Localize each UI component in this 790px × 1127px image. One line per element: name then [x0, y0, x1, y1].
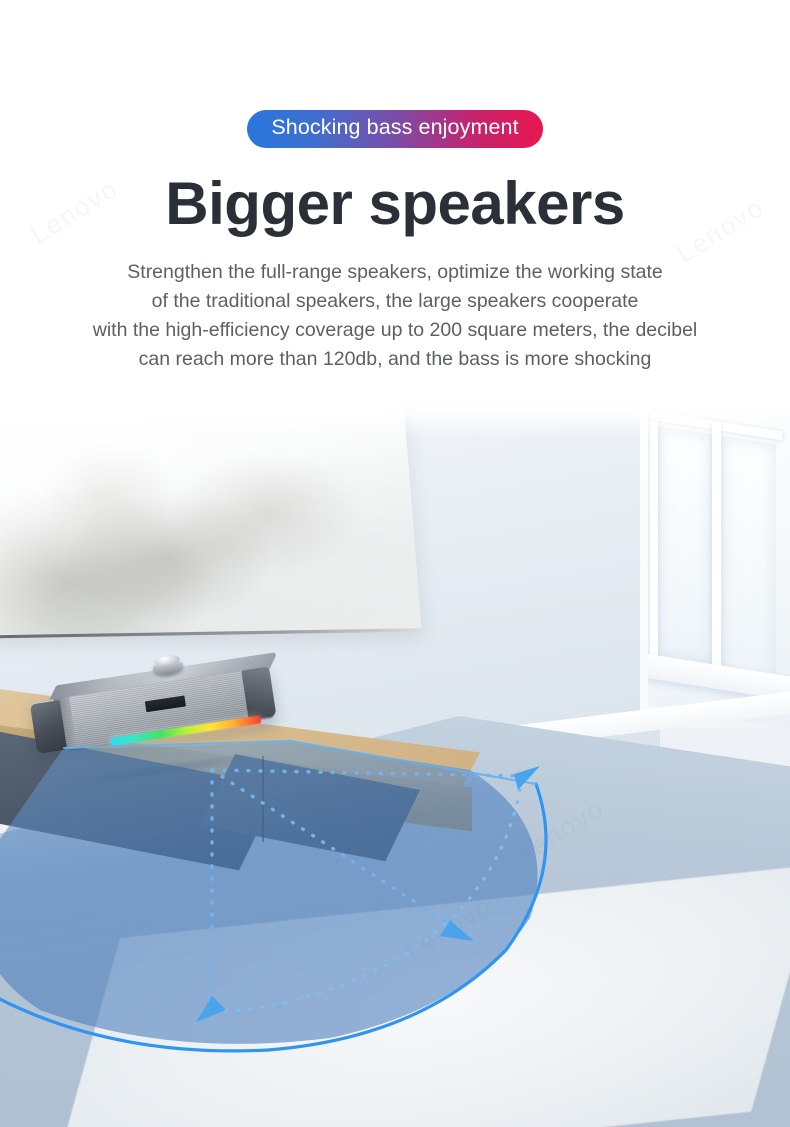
paragraph-line: of the traditional speakers, the large s… [0, 287, 790, 316]
tagline-badge: Shocking bass enjoyment [247, 110, 542, 148]
window-mullion [712, 422, 721, 673]
paragraph-line: can reach more than 120db, and the bass … [0, 345, 790, 374]
window-pane [658, 426, 712, 665]
scene-top-fade [0, 398, 790, 440]
text-section: Lenovo Lenovo Lenovo Shocking bass enjoy… [0, 0, 790, 400]
description-paragraph: Strengthen the full-range speakers, opti… [0, 258, 790, 374]
page-title: Bigger speakers [0, 172, 790, 235]
media-bench-seam [262, 756, 264, 842]
product-marketing-page: Lenovo Lenovo Lenovo Shocking bass enjoy… [0, 0, 790, 1127]
window-pane [722, 436, 776, 683]
badge-container: Shocking bass enjoyment [0, 110, 790, 148]
window [648, 406, 790, 729]
window-frame [650, 412, 658, 663]
paragraph-line: Strengthen the full-range speakers, opti… [0, 258, 790, 287]
paragraph-line: with the high-efficiency coverage up to … [0, 316, 790, 345]
product-scene-photo: Lenovo Lenovo [0, 398, 790, 1127]
